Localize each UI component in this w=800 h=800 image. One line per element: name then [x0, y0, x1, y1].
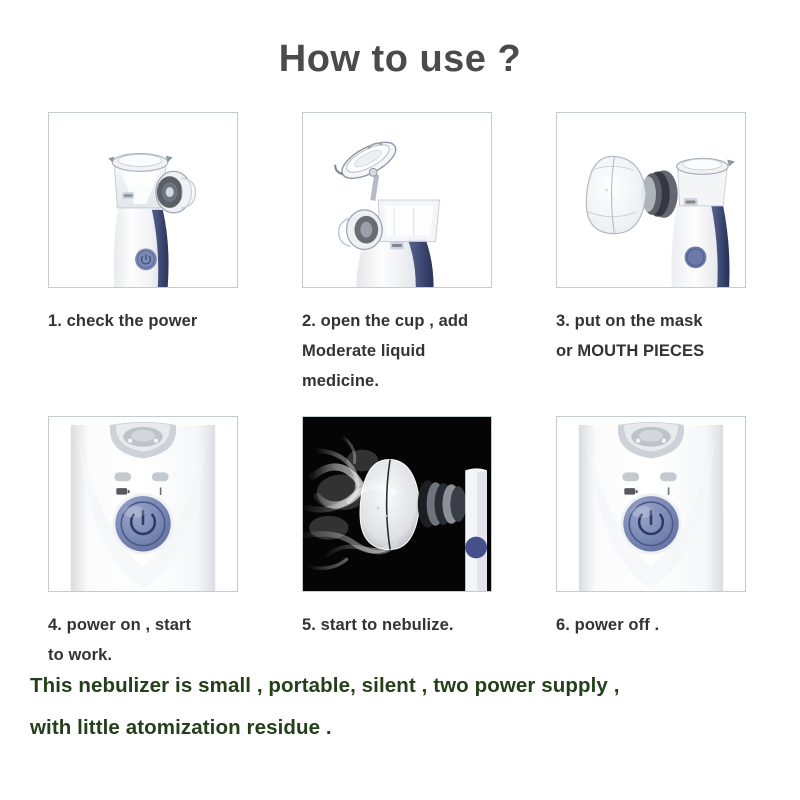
step-caption-6-line1: 6. power off . — [556, 616, 659, 634]
step-caption-3: 3. put on the mask or MOUTH PIECES — [556, 306, 752, 366]
step-image-frame-3 — [556, 112, 746, 288]
nebulizer-open-cup-photo — [303, 113, 491, 287]
step-caption-6: 6. power off . — [556, 610, 752, 640]
power-button-closeup-photo — [557, 417, 745, 591]
step-cell-4: 4. power on , start to work. — [48, 416, 244, 670]
step-caption-2: 2. open the cup , add Moderate liquid me… — [302, 306, 498, 396]
step-cell-2: 2. open the cup , add Moderate liquid me… — [302, 112, 498, 396]
step-caption-1-line1: 1. check the power — [48, 312, 197, 330]
step-image-frame-4 — [48, 416, 238, 592]
step-caption-2-line2: Moderate liquid medicine. — [302, 336, 498, 396]
step-image-frame-5 — [302, 416, 492, 592]
page-title: How to use ? — [0, 38, 800, 81]
step-caption-2-line1: 2. open the cup , add — [302, 312, 468, 330]
product-summary-text: This nebulizer is small , portable, sile… — [0, 665, 800, 749]
summary-line-1: This nebulizer is small , portable, sile… — [30, 665, 770, 707]
power-button-closeup-photo — [49, 417, 237, 591]
steps-row-top: 1. check the power — [0, 112, 800, 396]
step-caption-3-line2: or MOUTH PIECES — [556, 336, 752, 366]
step-cell-1: 1. check the power — [48, 112, 244, 396]
step-image-frame-1 — [48, 112, 238, 288]
step-cell-3: 3. put on the mask or MOUTH PIECES — [556, 112, 752, 396]
step-caption-4-line1: 4. power on , start — [48, 616, 191, 634]
summary-line-2: with little atomization residue . — [30, 707, 770, 749]
step-caption-3-line1: 3. put on the mask — [556, 312, 703, 330]
step-cell-6: 6. power off . — [556, 416, 752, 670]
step-caption-1: 1. check the power — [48, 306, 244, 336]
step-caption-4: 4. power on , start to work. — [48, 610, 244, 670]
how-to-use-page: How to use ? — [0, 0, 800, 800]
steps-grid: 1. check the power — [0, 112, 800, 670]
nebulizing-mist-photo — [303, 417, 491, 591]
step-cell-5: 5. start to nebulize. — [302, 416, 498, 670]
step-image-frame-2 — [302, 112, 492, 288]
steps-row-bottom: 4. power on , start to work. — [0, 416, 800, 670]
nebulizer-unit-photo — [49, 113, 237, 287]
nebulizer-with-mask-photo — [557, 113, 745, 287]
step-caption-5-line1: 5. start to nebulize. — [302, 616, 454, 634]
step-caption-5: 5. start to nebulize. — [302, 610, 498, 640]
step-image-frame-6 — [556, 416, 746, 592]
